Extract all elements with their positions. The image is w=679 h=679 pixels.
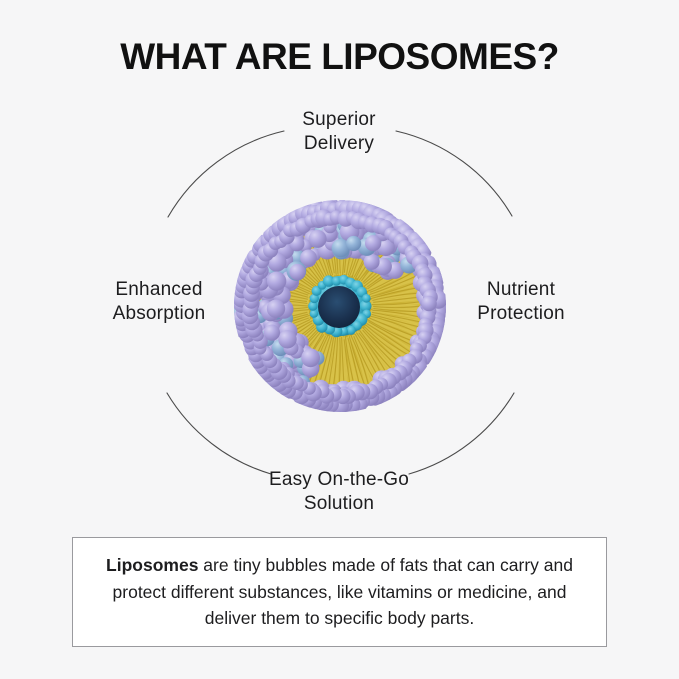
benefit-label-superior-delivery: Superior Delivery [219, 108, 459, 156]
benefits-radial-diagram: Superior Delivery Enhanced Absorption Nu… [0, 0, 679, 530]
infographic-canvas: WHAT ARE LIPOSOMES? Superior Delivery En… [0, 0, 679, 679]
liposome-illustration [234, 200, 446, 412]
benefit-label-easy-on-the-go: Easy On-the-Go Solution [219, 468, 459, 516]
caption-box: Liposomes are tiny bubbles made of fats … [72, 537, 607, 647]
caption-bold-lead: Liposomes [106, 555, 198, 575]
caption-text: Liposomes are tiny bubbles made of fats … [73, 552, 606, 632]
